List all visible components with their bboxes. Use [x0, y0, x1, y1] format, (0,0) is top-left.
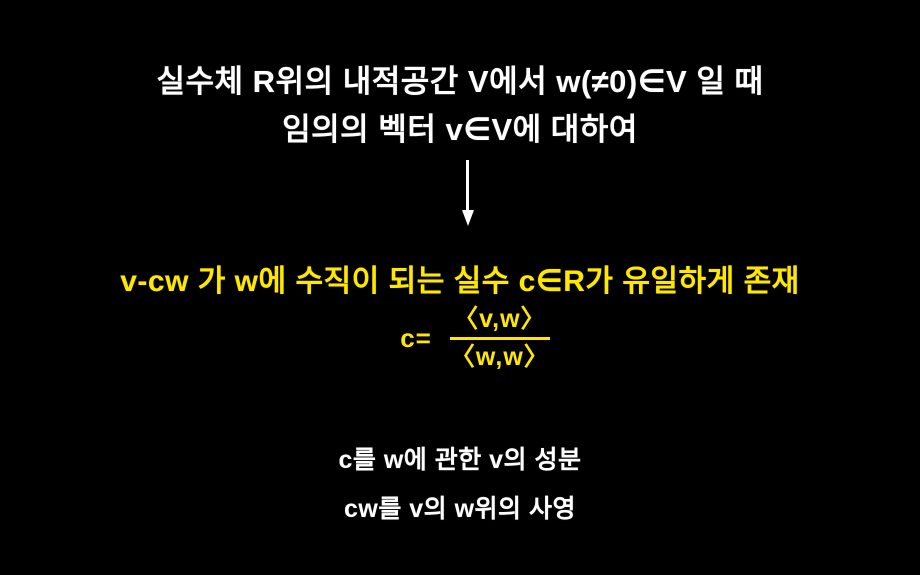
fraction-bar [450, 337, 550, 340]
formula-inner: c= 〈v,w〉 〈w,w〉 [400, 305, 556, 371]
formula-lhs: c= [400, 323, 432, 354]
fraction-denominator: 〈w,w〉 [444, 343, 556, 371]
premise-line-1: 실수체 R위의 내적공간 V에서 w(≠0)∈V 일 때 [0, 56, 920, 101]
fraction-numerator: 〈v,w〉 [447, 305, 552, 333]
arrow-head [462, 210, 474, 226]
slide-canvas: 실수체 R위의 내적공간 V에서 w(≠0)∈V 일 때 임의의 벡터 v∈V에… [0, 0, 920, 575]
fraction: 〈v,w〉 〈w,w〉 [444, 305, 556, 371]
projection-formula: c= 〈v,w〉 〈w,w〉 [0, 305, 920, 371]
note-line-2: cw를 v의 w위의 사영 [0, 489, 920, 525]
arrow-shaft [466, 160, 469, 212]
premise-line-2: 임의의 벡터 v∈V에 대하여 [0, 104, 920, 149]
arrow-down-icon [462, 160, 472, 228]
conclusion-line: v-cw 가 w에 수직이 되는 실수 c∈R가 유일하게 존재 [0, 256, 920, 300]
note-line-1: c를 w에 관한 v의 성분 [0, 440, 920, 476]
